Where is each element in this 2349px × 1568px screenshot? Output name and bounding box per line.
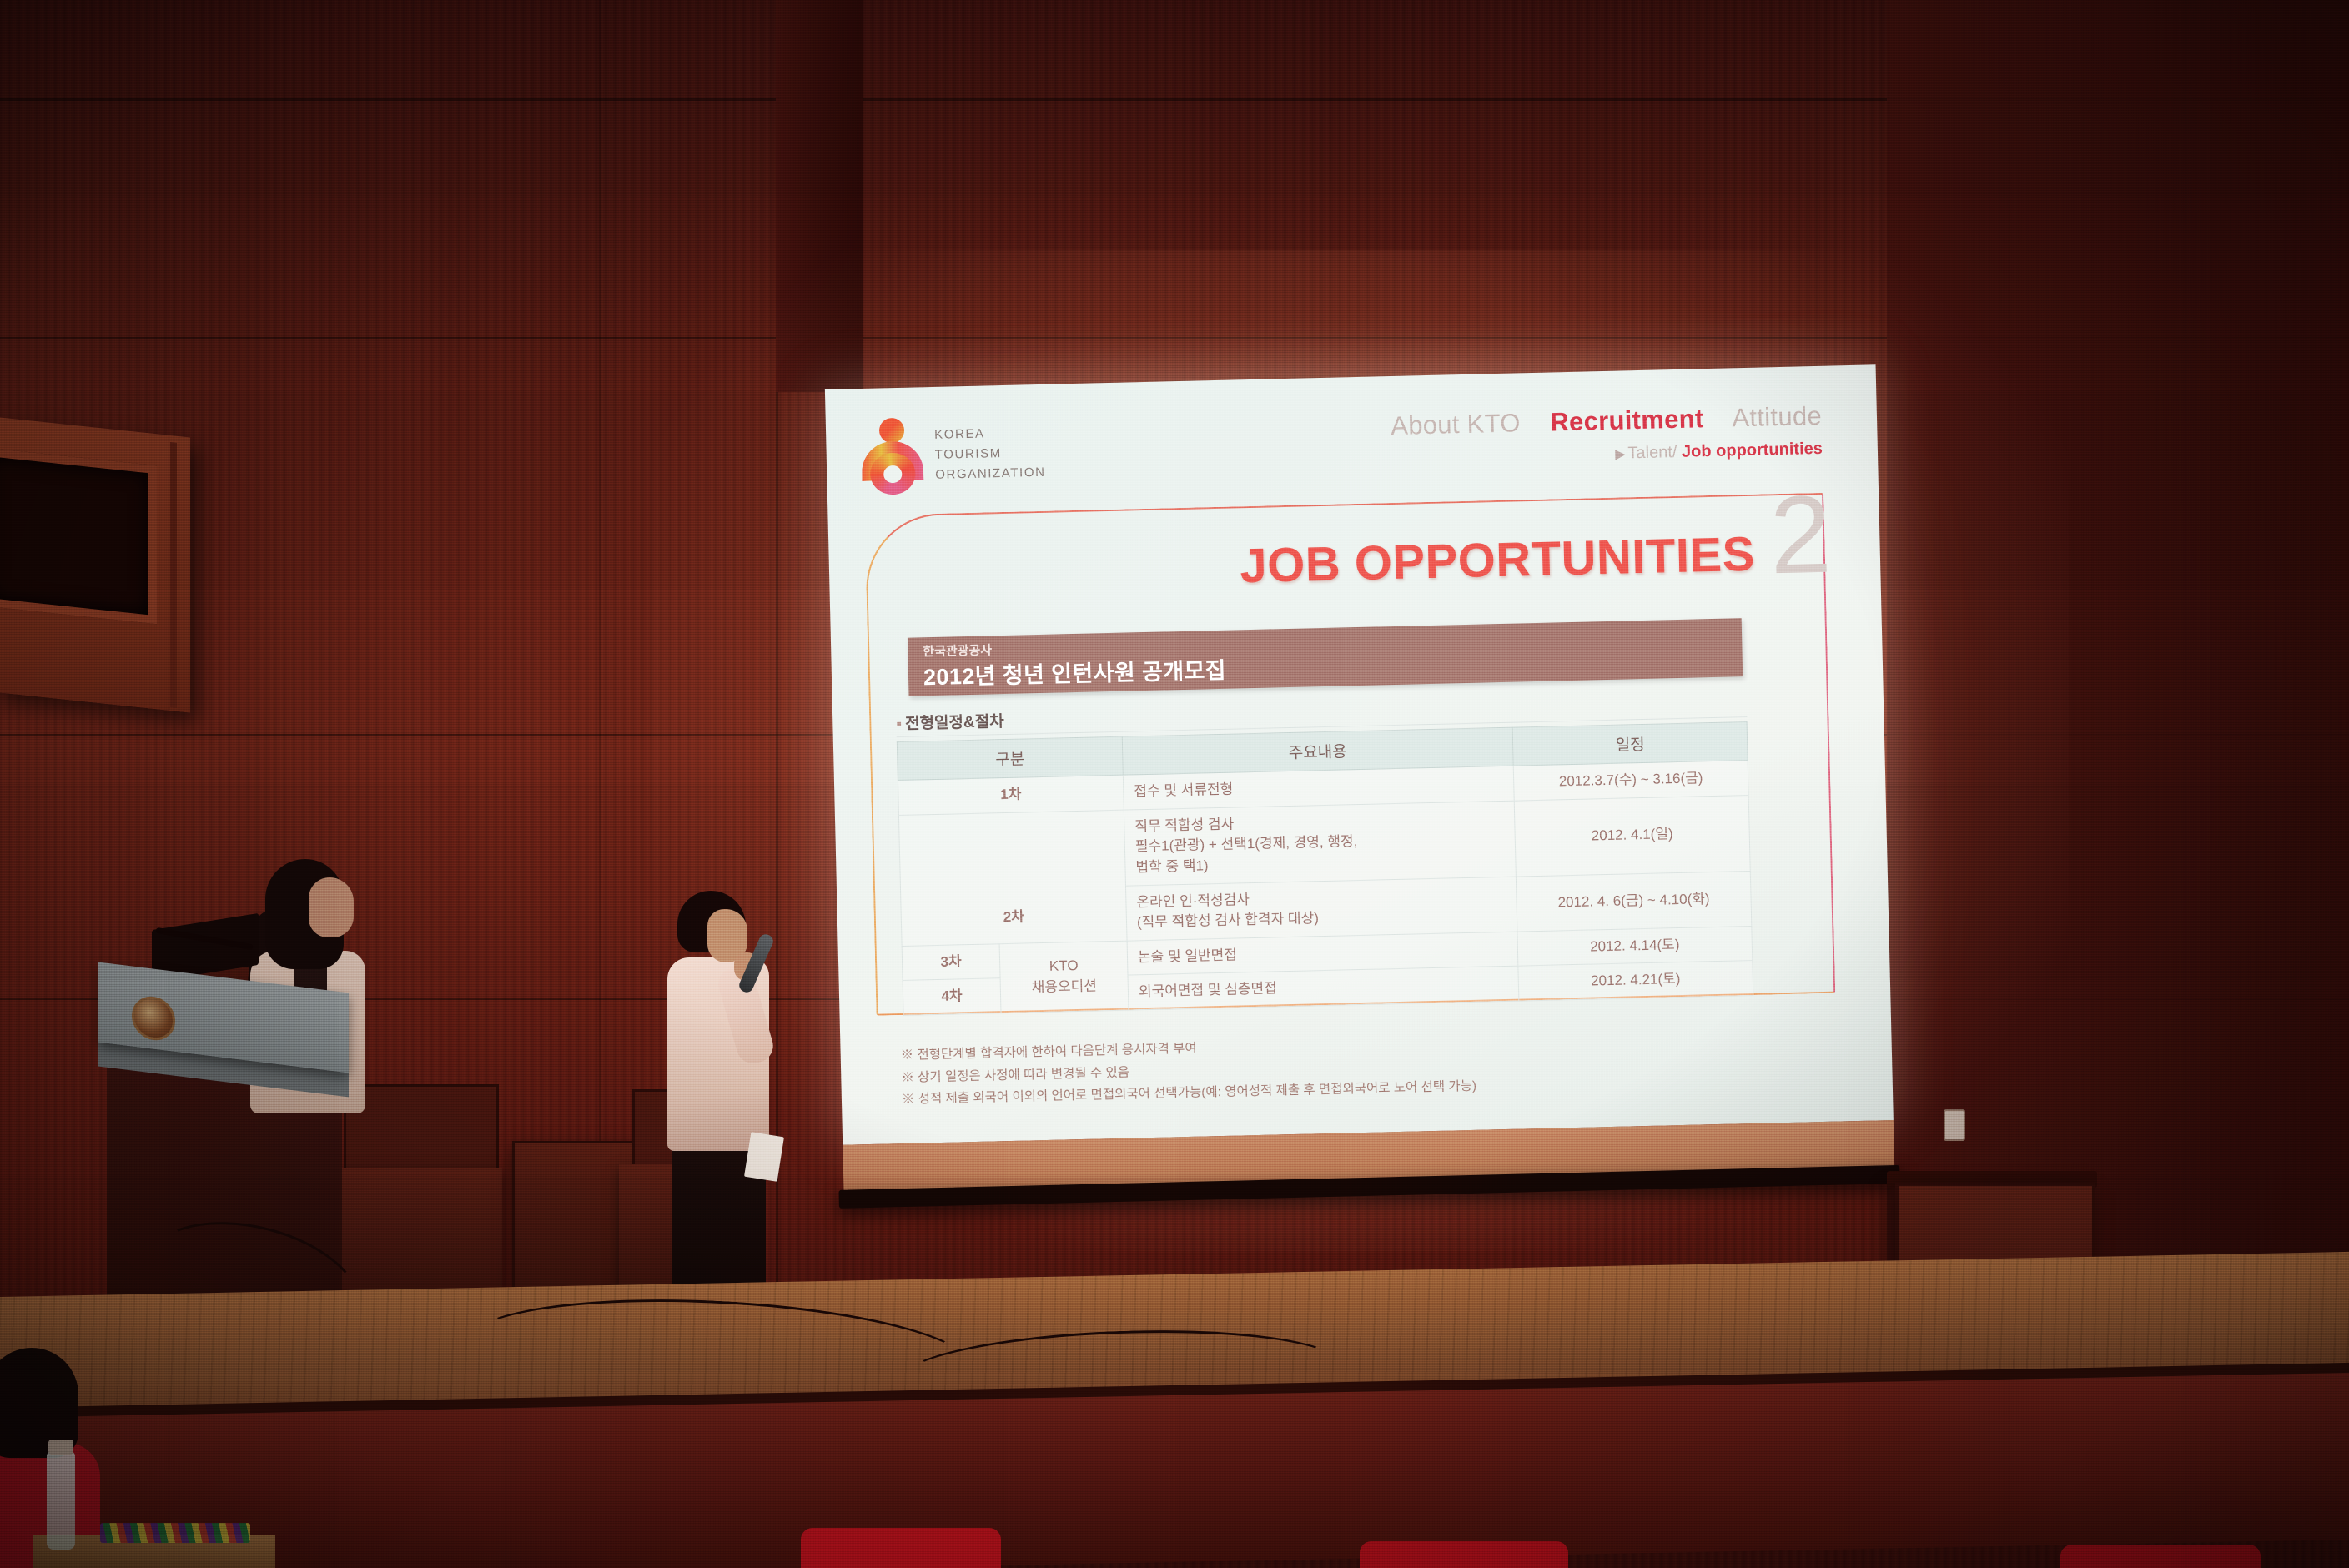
projection-screen: KOREA TOURISM ORGANIZATION About KTO Rec… [825, 364, 1894, 1189]
cell-stage: 2차 [898, 810, 1127, 947]
section-marker-icon: ▪ [896, 716, 902, 733]
moderator-face [309, 877, 354, 937]
slide-header-bar: 한국관광공사 2012년 청년 인턴사원 공개모집 [908, 618, 1743, 696]
audience-seat [2060, 1545, 2261, 1568]
breadcrumb-arrow-icon: ▶ [1615, 447, 1626, 461]
cell-date: 2012.3.7(수) ~ 3.16(금) [1513, 761, 1748, 801]
logo-line-2: TOURISM [934, 443, 1045, 465]
kto-logo-mark-icon [861, 417, 924, 495]
pens-on-desk [100, 1523, 250, 1543]
slide-section-number: 2 [1768, 480, 1833, 591]
booth-frame-edge [170, 442, 177, 708]
cell-date: 2012. 4.21(토) [1518, 961, 1753, 1001]
cell-stage: 3차 [902, 944, 1000, 981]
screen-surface: KOREA TOURISM ORGANIZATION About KTO Rec… [825, 364, 1894, 1144]
kto-logo-text: KOREA TOURISM ORGANIZATION [934, 422, 1046, 485]
nav-item-attitude[interactable]: Attitude [1732, 401, 1822, 433]
audience-seat [801, 1528, 1001, 1568]
nav-item-recruitment[interactable]: Recruitment [1550, 404, 1704, 436]
wall-pillar [776, 0, 863, 392]
cell-stage: 1차 [898, 775, 1124, 815]
breadcrumb-parent: Talent/ [1627, 443, 1677, 462]
col-header-schedule: 일정 [1512, 722, 1748, 766]
projection-booth-window [0, 416, 190, 712]
col-header-category: 구분 [897, 736, 1123, 780]
logo-line-1: KOREA [934, 422, 1045, 445]
breadcrumb: ▶Talent/ Job opportunities [1391, 440, 1823, 469]
bottle-cap [48, 1440, 73, 1455]
slide-footnotes: ※ 전형단계별 합격자에 한하여 다음단계 응시자격 부여 ※ 상기 일정은 사… [900, 1032, 1476, 1112]
section-heading: ▪전형일정&절차 [896, 709, 1004, 734]
booth-glass [0, 447, 157, 624]
photo-scene: KOREA TOURISM ORGANIZATION About KTO Rec… [0, 0, 2349, 1568]
audience-seat [1360, 1541, 1568, 1568]
cell-group: KTO 채용오디션 [999, 941, 1129, 1013]
wall-seam-vertical [599, 0, 601, 1301]
cell-content: 직무 적합성 검사 필수1(관광) + 선택1(경제, 경영, 행정, 법학 중… [1124, 801, 1516, 886]
slide-title: JOB OPPORTUNITIES [828, 526, 1755, 604]
header-bar-title: 2012년 청년 인턴사원 공개모집 [923, 652, 1227, 692]
presentation-slide: KOREA TOURISM ORGANIZATION About KTO Rec… [825, 364, 1894, 1144]
cell-content: 온라인 인·적성검사 (직무 적합성 검사 합격자 대상) [1125, 877, 1517, 941]
cell-stage: 4차 [903, 978, 1001, 1015]
kto-logo: KOREA TOURISM ORGANIZATION [861, 415, 1046, 495]
schedule-table: 구분 주요내용 일정 1차 접수 및 서류전형 2012.3.7(수) ~ 3.… [897, 721, 1753, 1016]
section-heading-text: 전형일정&절차 [905, 713, 1004, 733]
breadcrumb-current: Job opportunities [1682, 440, 1823, 461]
cell-date: 2012. 4.1(일) [1514, 795, 1750, 877]
wall-pillar-right [1887, 0, 2349, 1301]
stage-chair-back [344, 1084, 499, 1179]
logo-line-3: ORGANIZATION [935, 463, 1046, 485]
cell-date: 2012. 4.14(토) [1517, 926, 1753, 966]
slide-top-nav: About KTO Recruitment Attitude ▶Talent/ … [1391, 401, 1823, 469]
wall-outlet [1944, 1109, 1965, 1141]
water-bottle [47, 1451, 75, 1550]
presenter-papers [744, 1132, 784, 1182]
cell-date: 2012. 4. 6(금) ~ 4.10(화) [1516, 871, 1751, 932]
nav-item-about-kto[interactable]: About KTO [1391, 408, 1521, 440]
